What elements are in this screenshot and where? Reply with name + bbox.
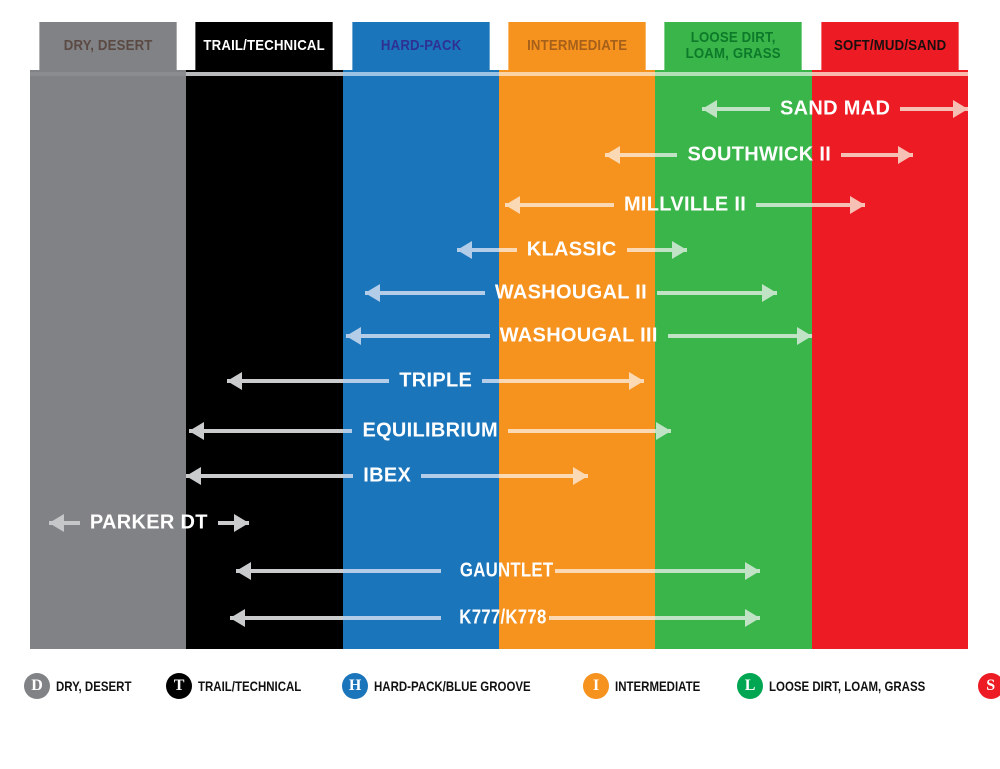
legend-item-h[interactable]: HHARD-PACK/BLUE GROOVE <box>342 673 565 699</box>
arrow-head-left-icon <box>230 609 245 627</box>
column-separator-3 <box>499 70 655 78</box>
arrow-head-left-icon <box>702 100 717 118</box>
range-line-segment <box>657 291 777 295</box>
range-label: WASHOUGAL II <box>495 282 647 305</box>
column-header-label: DRY, DESERT <box>60 38 156 54</box>
range-line-segment <box>189 429 342 433</box>
range-row: MILLVILLE II <box>0 190 1000 220</box>
arrow-head-right-icon <box>850 196 865 214</box>
legend-badge-icon: D <box>24 673 50 699</box>
legend-badge-icon: L <box>737 673 763 699</box>
arrow-head-right-icon <box>953 100 968 118</box>
arrow-head-right-icon <box>672 241 687 259</box>
range-row: EQUILIBRIUM <box>0 416 1000 446</box>
arrow-head-right-icon <box>797 327 812 345</box>
column-header-label: SOFT/MUD/SAND <box>830 38 949 54</box>
range-line-segment <box>365 291 485 295</box>
arrow-head-left-icon <box>346 327 361 345</box>
range-line-segment <box>499 379 644 383</box>
range-row: PARKER DT <box>0 508 1000 538</box>
arrow-head-left-icon <box>365 284 380 302</box>
column-header-4: LOOSE DIRT, LOAM, GRASS <box>665 22 803 70</box>
range-line-segment <box>627 248 656 252</box>
arrow-head-left-icon <box>189 422 204 440</box>
range-label: PARKER DT <box>90 512 208 535</box>
legend-badge-icon: H <box>342 673 368 699</box>
range-label: KLASSIC <box>527 239 617 262</box>
arrow-head-right-icon <box>656 422 671 440</box>
arrow-head-left-icon <box>227 372 242 390</box>
arrow-head-right-icon <box>762 284 777 302</box>
range-label: SAND MAD <box>780 98 890 121</box>
arrow-head-left-icon <box>505 196 520 214</box>
range-row: K777/K778 <box>0 603 1000 633</box>
column-separator-4 <box>655 70 811 78</box>
range-row: IBEX <box>0 461 1000 491</box>
arrow-head-left-icon <box>49 514 64 532</box>
terrain-range-chart: DRY, DESERTTRAIL/TECHNICALHARD-PACKINTER… <box>0 0 1000 769</box>
column-header-2: HARD-PACK <box>352 22 490 70</box>
range-line-segment <box>505 203 614 207</box>
range-row: GAUNTLET <box>0 556 1000 586</box>
header-separator-row <box>30 70 968 78</box>
legend-label: TRAIL/TECHNICAL <box>198 678 301 694</box>
arrow-head-right-icon <box>898 146 913 164</box>
arrow-head-right-icon <box>234 514 249 532</box>
column-separator-0 <box>30 70 186 78</box>
column-header-label: HARD-PACK <box>377 38 465 54</box>
range-label: EQUILIBRIUM <box>362 420 498 443</box>
range-line-segment <box>230 616 343 620</box>
range-line-segment <box>186 474 342 478</box>
range-row: SAND MAD <box>0 94 1000 124</box>
range-label: TRIPLE <box>399 370 472 393</box>
range-label: GAUNTLET <box>460 560 553 583</box>
column-header-label: INTERMEDIATE <box>524 38 631 54</box>
arrow-head-right-icon <box>745 562 760 580</box>
arrow-head-left-icon <box>236 562 251 580</box>
range-row: WASHOUGAL II <box>0 278 1000 308</box>
arrow-head-right-icon <box>573 467 588 485</box>
column-header-label: LOOSE DIRT, LOAM, GRASS <box>665 30 803 62</box>
column-header-label: TRAIL/TECHNICAL <box>200 38 328 54</box>
column-separator-1 <box>186 70 342 78</box>
legend-item-l[interactable]: LLOOSE DIRT, LOAM, GRASS <box>737 673 960 699</box>
range-line-segment <box>549 616 656 620</box>
range-row: SOUTHWICK II <box>0 140 1000 170</box>
range-line-segment <box>343 379 390 383</box>
range-line-segment <box>756 203 812 207</box>
arrow-head-left-icon <box>457 241 472 259</box>
range-line-segment <box>343 616 442 620</box>
column-header-1: TRAIL/TECHNICAL <box>196 22 334 70</box>
range-line-segment <box>668 334 812 338</box>
legend-label: INTERMEDIATE <box>615 678 700 694</box>
legend-item-i[interactable]: IINTERMEDIATE <box>583 673 719 699</box>
arrow-head-right-icon <box>629 372 644 390</box>
range-label: K777/K778 <box>460 607 547 630</box>
legend-item-t[interactable]: TTRAIL/TECHNICAL <box>166 673 324 699</box>
column-header-5: SOFT/MUD/SAND <box>821 22 959 70</box>
range-line-segment <box>655 153 677 157</box>
range-line-segment <box>346 334 490 338</box>
range-line-segment <box>236 569 342 573</box>
arrow-head-left-icon <box>186 467 201 485</box>
legend: DDRY, DESERTTTRAIL/TECHNICALHHARD-PACK/B… <box>24 664 976 708</box>
range-label: WASHOUGAL III <box>500 325 658 348</box>
range-label: SOUTHWICK II <box>687 144 831 167</box>
range-row: WASHOUGAL III <box>0 321 1000 351</box>
range-line-segment <box>508 429 655 433</box>
range-line-segment <box>499 248 517 252</box>
column-header-0: DRY, DESERT <box>39 22 177 70</box>
column-separator-2 <box>343 70 499 78</box>
legend-badge-icon: T <box>166 673 192 699</box>
legend-label: LOOSE DIRT, LOAM, GRASS <box>769 678 925 694</box>
arrow-head-right-icon <box>745 609 760 627</box>
legend-label: HARD-PACK/BLUE GROOVE <box>374 678 531 694</box>
range-row: TRIPLE <box>0 366 1000 396</box>
column-separator-5 <box>812 70 968 78</box>
arrow-head-left-icon <box>605 146 620 164</box>
range-line-segment <box>555 569 655 573</box>
legend-label: DRY, DESERT <box>56 678 131 694</box>
column-header-row: DRY, DESERTTRAIL/TECHNICALHARD-PACKINTER… <box>30 22 968 70</box>
range-line-segment <box>227 379 343 383</box>
range-line-segment <box>421 474 499 478</box>
range-line-segment <box>343 569 442 573</box>
legend-badge-icon: I <box>583 673 609 699</box>
legend-item-s[interactable]: SSOFT/MUD/SAND <box>978 673 1000 699</box>
range-line-segment <box>482 379 499 383</box>
legend-item-d[interactable]: DDRY, DESERT <box>24 673 148 699</box>
range-label: IBEX <box>363 465 411 488</box>
legend-badge-icon: S <box>978 673 1000 699</box>
range-label: MILLVILLE II <box>624 194 746 217</box>
column-header-3: INTERMEDIATE <box>508 22 646 70</box>
range-rows: SAND MADSOUTHWICK IIMILLVILLE IIKLASSICW… <box>0 78 1000 649</box>
range-line-segment <box>343 474 354 478</box>
range-row: KLASSIC <box>0 235 1000 265</box>
range-line-segment <box>343 429 353 433</box>
